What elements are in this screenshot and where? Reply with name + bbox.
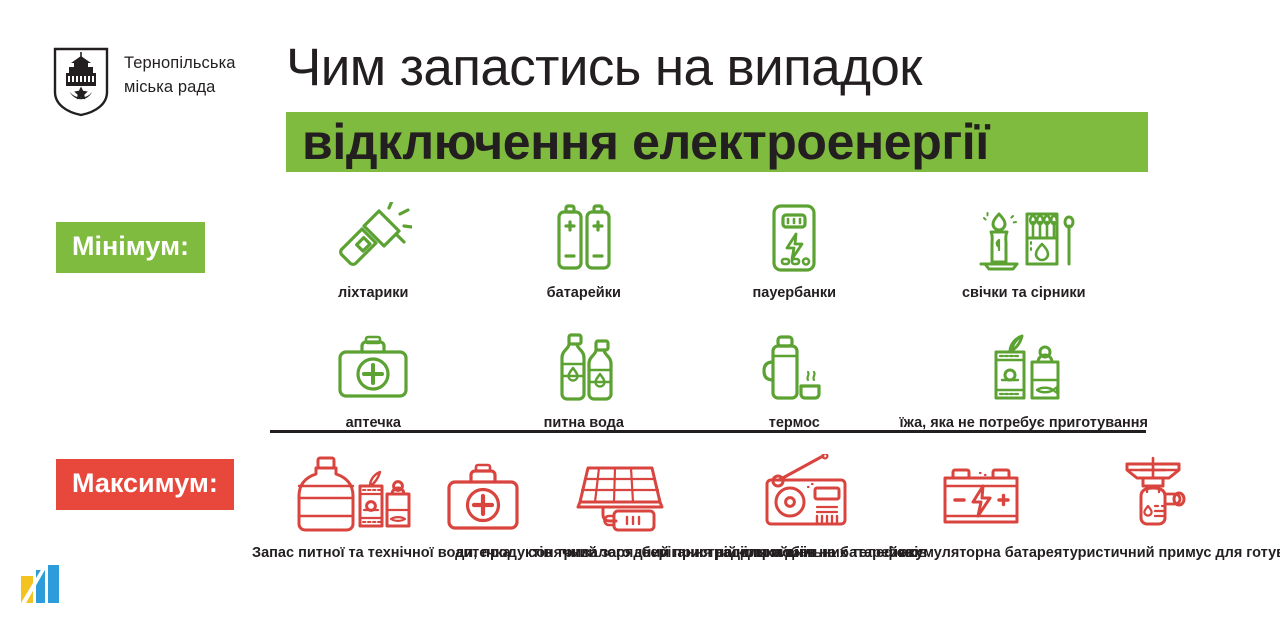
minimum-items-grid: ліхтарики батарейки <box>268 196 1148 432</box>
item-label: батарейки <box>547 284 621 302</box>
section-divider <box>270 430 1146 433</box>
item-water-food-supply: Запас питної та технічної води, продукті… <box>252 452 438 564</box>
brand-name: Тернопільська міська рада <box>124 46 236 100</box>
item-label: пауербанки <box>753 284 837 302</box>
ternopil-coat-of-arms-icon <box>52 46 110 118</box>
item-first-aid-kit: аптечка <box>268 326 479 432</box>
powerbank-icon <box>755 196 833 274</box>
radio-receiver-icon <box>757 452 857 534</box>
title-line-2: відключення електроенергії <box>302 112 1132 172</box>
item-label: туристичний примус для готування їжі <box>1062 544 1248 564</box>
candle-matches-icon <box>969 196 1079 274</box>
item-first-aid-kit-max: аптечка <box>438 452 528 564</box>
section-badge-maximum: Максимум: <box>56 459 234 510</box>
item-solar-charger: сонячний зарядний пристрій для мобільних… <box>528 452 714 564</box>
brand-line-2: міська рада <box>124 76 236 100</box>
item-flashlight: ліхтарики <box>268 196 479 302</box>
item-label: ліхтарики <box>338 284 408 302</box>
thermos-icon <box>751 326 837 404</box>
car-battery-icon <box>933 452 1029 534</box>
brand-line-1: Тернопільська <box>124 52 236 76</box>
item-batteries: батарейки <box>479 196 690 302</box>
title-line-1: Чим запастись на випадок <box>286 36 1166 100</box>
section-badge-minimum: Мінімум: <box>56 222 205 273</box>
item-label: Запас питної та технічної води, продукті… <box>252 544 438 564</box>
item-label: аптечка <box>455 544 510 564</box>
item-car-battery: акумуляторна батарея <box>900 452 1062 564</box>
item-camping-stove: туристичний примус для готування їжі <box>1062 452 1248 564</box>
solar-charger-icon <box>568 452 674 534</box>
infographic-page: Тернопільська міська рада Чим запастись … <box>0 0 1280 640</box>
item-label: акумуляторна батарея <box>900 544 1062 564</box>
page-title: Чим запастись на випадок відключення еле… <box>286 36 1166 172</box>
title-highlight-band: відключення електроенергії <box>286 112 1148 172</box>
item-powerbank: пауербанки <box>689 196 900 302</box>
maximum-items-grid: Запас питної та технічної води, продукті… <box>252 452 1248 564</box>
first-aid-kit-icon <box>438 452 528 534</box>
item-thermos: термос <box>689 326 900 432</box>
water-supply-icon <box>274 452 416 534</box>
water-bottles-icon <box>543 326 625 404</box>
item-label: радіоприймач на батарейках <box>714 544 900 564</box>
item-ready-to-eat-food: їжа, яка не потребує приготування <box>900 326 1148 432</box>
flashlight-icon <box>334 196 412 274</box>
brand-block: Тернопільська міська рада <box>52 46 236 118</box>
item-battery-radio: радіоприймач на батарейках <box>714 452 900 564</box>
ternopil-city-mark-icon <box>18 562 64 606</box>
canned-food-icon <box>980 326 1068 404</box>
item-label: свічки та сірники <box>962 284 1086 302</box>
first-aid-kit-icon <box>330 326 416 404</box>
item-drinking-water: питна вода <box>479 326 690 432</box>
item-label: сонячний зарядний пристрій для мобільних… <box>528 544 714 564</box>
item-candles-matches: свічки та сірники <box>900 196 1148 302</box>
batteries-icon <box>545 196 623 274</box>
camping-stove-icon <box>1107 452 1203 534</box>
